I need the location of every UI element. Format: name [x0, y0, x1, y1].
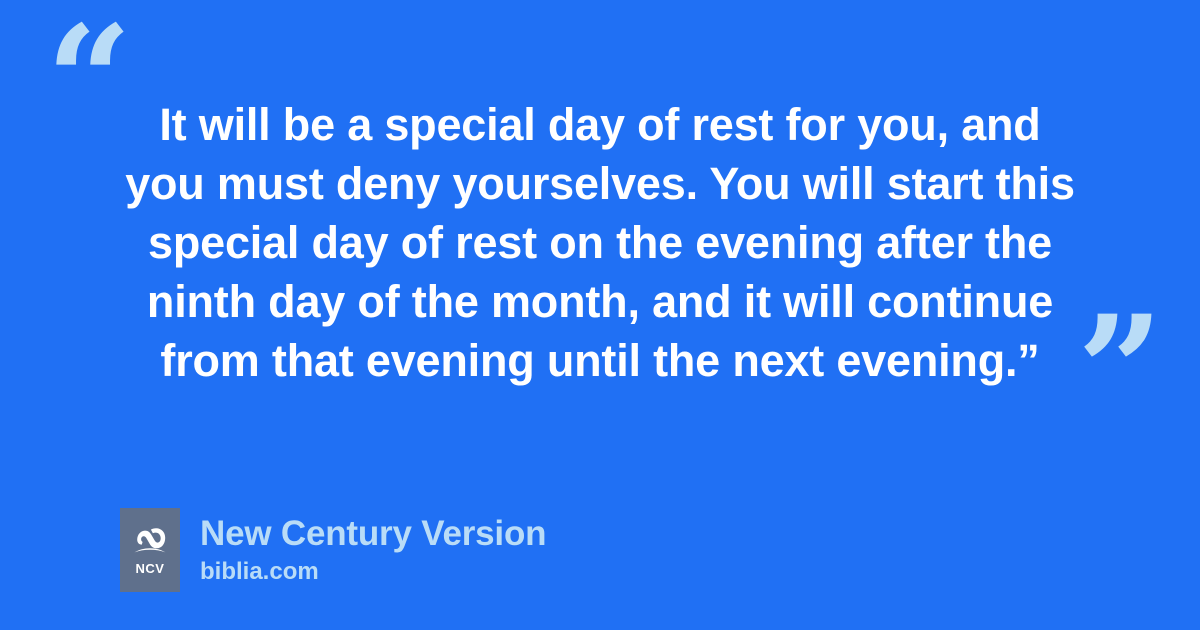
ncv-logo: NCV [120, 508, 180, 592]
quote-line: you must deny yourselves. You will start… [100, 154, 1100, 213]
ncv-monogram-icon [133, 524, 167, 554]
attribution-text: New Century Version biblia.com [200, 514, 546, 586]
site-url[interactable]: biblia.com [200, 558, 546, 586]
quote-line: It will be a special day of rest for you… [100, 95, 1100, 154]
quote-line: ninth day of the month, and it will cont… [100, 272, 1100, 331]
quote-text-block: It will be a special day of rest for you… [100, 95, 1100, 390]
bible-version-name: New Century Version [200, 514, 546, 554]
quote-line: special day of rest on the evening after… [100, 213, 1100, 272]
ncv-logo-label: NCV [136, 561, 165, 576]
quote-card: “ It will be a special day of rest for y… [0, 0, 1200, 630]
close-quote-mark-icon: ” [1077, 296, 1163, 446]
attribution: NCV New Century Version biblia.com [120, 508, 546, 592]
quote-line: from that evening until the next evening… [100, 331, 1100, 390]
